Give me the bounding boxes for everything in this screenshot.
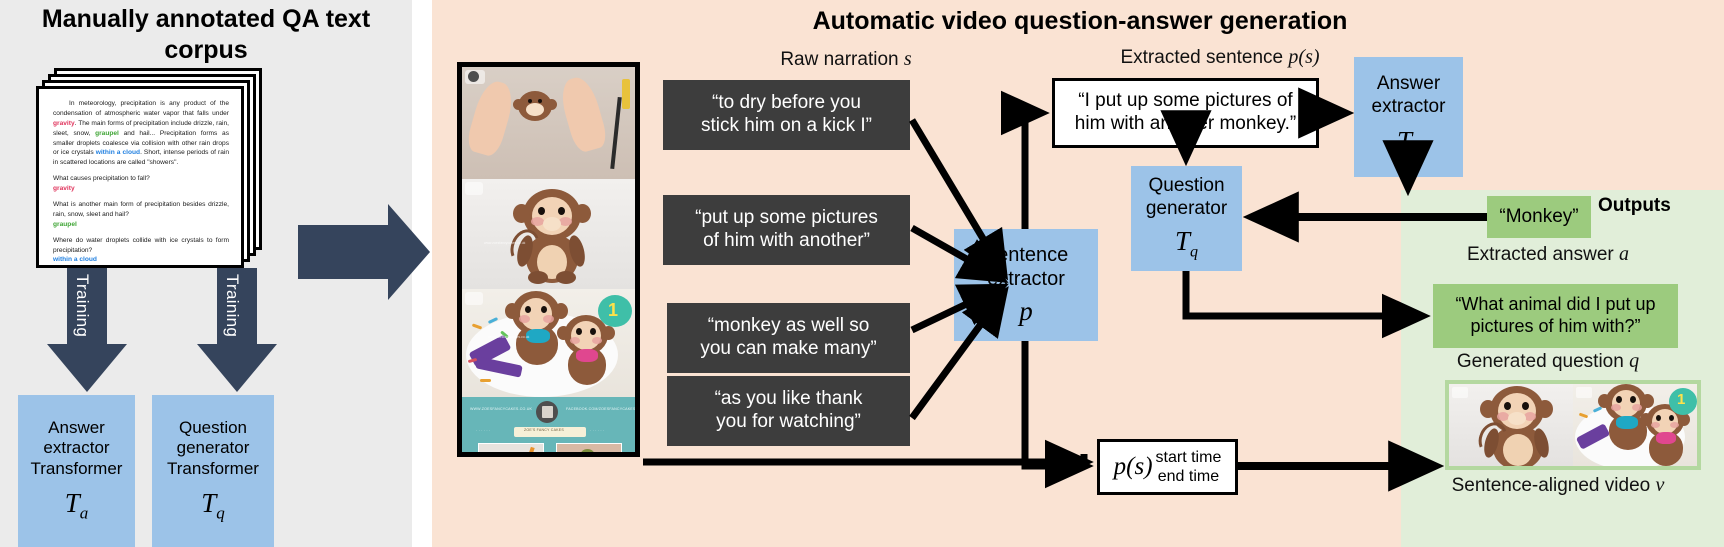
right-panel-title: Automatic video question-answer generati… <box>500 6 1660 37</box>
answer-extractor-box-symbol: Ta <box>1397 125 1420 162</box>
generated-question-line1: “What animal did I put up <box>1455 294 1655 316</box>
clay-balloon: 1 <box>598 295 632 327</box>
generated-question-symbol: q <box>1629 350 1639 372</box>
narration-box-4: “as you like thank you for watching” <box>667 376 910 446</box>
aligned-video-frame-2: 1 <box>1573 384 1697 466</box>
doc-a3: within a cloud <box>53 255 229 265</box>
video-frame-outro: WWW.ZOESFANCYCAKES.CO.UK FACEBOOK.COM/ZO… <box>462 397 635 457</box>
narration-box-1: “to dry before you stick him on a kick I… <box>663 80 910 150</box>
sentence-aligned-video-thumbnail: 1 <box>1445 380 1701 470</box>
video-frame-hands <box>462 67 635 179</box>
answer-extractor-symbol: Ta <box>65 487 89 524</box>
sentence-extractor-line1: Sentence <box>984 243 1069 267</box>
question-generator-transformer-box[interactable]: Question generator Transformer Tq <box>152 395 274 547</box>
narration-1-line2: stick him on a kick I” <box>701 115 872 138</box>
timing-box-line2: end time <box>1156 467 1222 486</box>
document-paragraph: In meteorology, precipitation is any pro… <box>53 99 229 168</box>
raw-narration-label: Raw narration s <box>726 48 966 71</box>
extracted-sentence-line1: “I put up some pictures of <box>1078 90 1292 113</box>
left-title-line1: Manually annotated <box>42 5 275 33</box>
question-generator-line3: Transformer <box>167 459 259 479</box>
clay-monkey-single <box>510 187 596 285</box>
extracted-sentence-symbol: p(s) <box>1288 46 1319 68</box>
extracted-sentence-line2: him with another monkey.” <box>1075 113 1296 136</box>
question-generator-box[interactable]: Question generator Tq <box>1131 166 1242 271</box>
sentence-aligned-video-symbol: v <box>1655 474 1664 496</box>
para-pre1: In meteorology, precipitation is any pro… <box>53 100 229 117</box>
doc-q3: Where do water droplets collide with ice… <box>53 236 229 256</box>
sentence-aligned-video-label: Sentence-aligned video v <box>1408 474 1708 497</box>
narration-box-3: “monkey as well so you can make many” <box>667 303 910 373</box>
training-arrow-question-label: Training <box>222 274 242 337</box>
aligned-video-badge-2 <box>1576 387 1592 398</box>
figure-canvas: Manually annotated QA text corpus In met… <box>0 0 1724 547</box>
narration-2-line1: “put up some pictures <box>695 207 878 230</box>
training-arrow-answer-label: Training <box>72 274 92 337</box>
generated-question-chip: “What animal did I put up pictures of hi… <box>1433 284 1678 348</box>
narration-box-2: “put up some pictures of him with anothe… <box>663 195 910 265</box>
clay-monkey-pink-bow <box>558 315 616 387</box>
narration-3-line2: you can make many” <box>700 338 876 361</box>
answer-extractor-box[interactable]: Answer extractor Ta <box>1354 57 1463 177</box>
question-generator-symbol: Tq <box>201 487 225 524</box>
question-generator-box-line2: generator <box>1146 198 1227 221</box>
sentence-extractor-line2: extractor <box>987 267 1065 291</box>
extracted-answer-chip-text: “Monkey” <box>1499 206 1578 229</box>
outro-banner-left: WWW.ZOESFANCYCAKES.CO.UK <box>470 407 532 411</box>
outputs-label: Outputs <box>1598 194 1718 217</box>
raw-narration-symbol: s <box>904 48 912 70</box>
doc-a2: graupel <box>53 220 229 230</box>
generated-question-label: Generated question q <box>1408 350 1688 373</box>
narration-2-line2: of him with another” <box>703 230 870 253</box>
extracted-sentence-box: “I put up some pictures of him with anot… <box>1052 78 1319 148</box>
left-panel-title: Manually annotated QA text corpus <box>10 4 402 65</box>
timing-box-symbol: p(s) <box>1114 452 1153 482</box>
highlight-gravity: gravity <box>53 120 75 127</box>
timing-box-line1: start time <box>1156 448 1222 467</box>
source-video-thumbnail-strip: www.zoesfancycakes.co.uk <box>457 62 640 457</box>
answer-extractor-line3: Transformer <box>31 459 123 479</box>
clay-monkey-inprogress <box>514 89 558 129</box>
narration-4-line1: “as you like thank <box>715 388 863 411</box>
video-watermark-url-2: www.zoesfancycakes.co.uk <box>488 335 529 339</box>
question-generator-box-line1: Question <box>1148 175 1224 198</box>
doc-q1: What causes precipitation to fall? <box>53 174 229 184</box>
extracted-sentence-label: Extracted sentence p(s) <box>1060 46 1380 69</box>
narration-4-line2: you for watching” <box>716 411 861 434</box>
document-text: In meteorology, precipitation is any pro… <box>53 99 229 271</box>
answer-extractor-box-line2: extractor <box>1372 96 1446 119</box>
video-frame-single-monkey: www.zoesfancycakes.co.uk <box>462 179 635 289</box>
aligned-video-frame-1 <box>1449 384 1573 466</box>
video-channel-badge-2 <box>465 182 483 195</box>
aligned-video-balloon: 1 <box>1669 388 1697 415</box>
answer-extractor-line2: extractor <box>43 438 109 458</box>
highlight-within-a-cloud: within a cloud <box>96 149 140 156</box>
answer-extractor-line1: Answer <box>48 418 105 438</box>
aligned-video-badge-1 <box>1452 387 1468 398</box>
question-generator-box-symbol: Tq <box>1175 225 1198 262</box>
video-channel-badge-3 <box>465 292 483 305</box>
extracted-answer-symbol: a <box>1619 243 1629 265</box>
outro-scroll-text: ZOE'S FANCY CAKES <box>524 428 564 432</box>
highlight-graupel: graupel <box>95 130 119 137</box>
video-frame-two-monkeys: 1 www.zoesfancycakes.co.uk <box>462 289 635 397</box>
sentence-extractor-symbol: p <box>1019 295 1033 327</box>
outro-banner-right: FACEBOOK.COM/ZOESFANCYCAKES <box>566 407 635 411</box>
sentence-extractor-box[interactable]: Sentence extractor p <box>954 229 1098 341</box>
extracted-answer-label: Extracted answer a <box>1408 243 1688 266</box>
extracted-answer-chip: “Monkey” <box>1487 196 1591 238</box>
question-generator-line1: Question <box>179 418 247 438</box>
doc-q2: What is another main form of precipitati… <box>53 200 229 220</box>
answer-extractor-transformer-box[interactable]: Answer extractor Transformer Ta <box>18 395 135 547</box>
timing-box: p(s) start time end time <box>1097 439 1238 495</box>
generated-question-line2: pictures of him with?” <box>1470 316 1640 338</box>
narration-1-line1: “to dry before you <box>712 92 861 115</box>
narration-3-line1: “monkey as well so <box>708 315 870 338</box>
answer-extractor-box-line1: Answer <box>1377 73 1440 96</box>
doc-sheet-front: In meteorology, precipitation is any pro… <box>36 86 244 268</box>
question-generator-line2: generator <box>177 438 250 458</box>
video-watermark-url: www.zoesfancycakes.co.uk <box>484 241 525 245</box>
doc-a1: gravity <box>53 184 229 194</box>
